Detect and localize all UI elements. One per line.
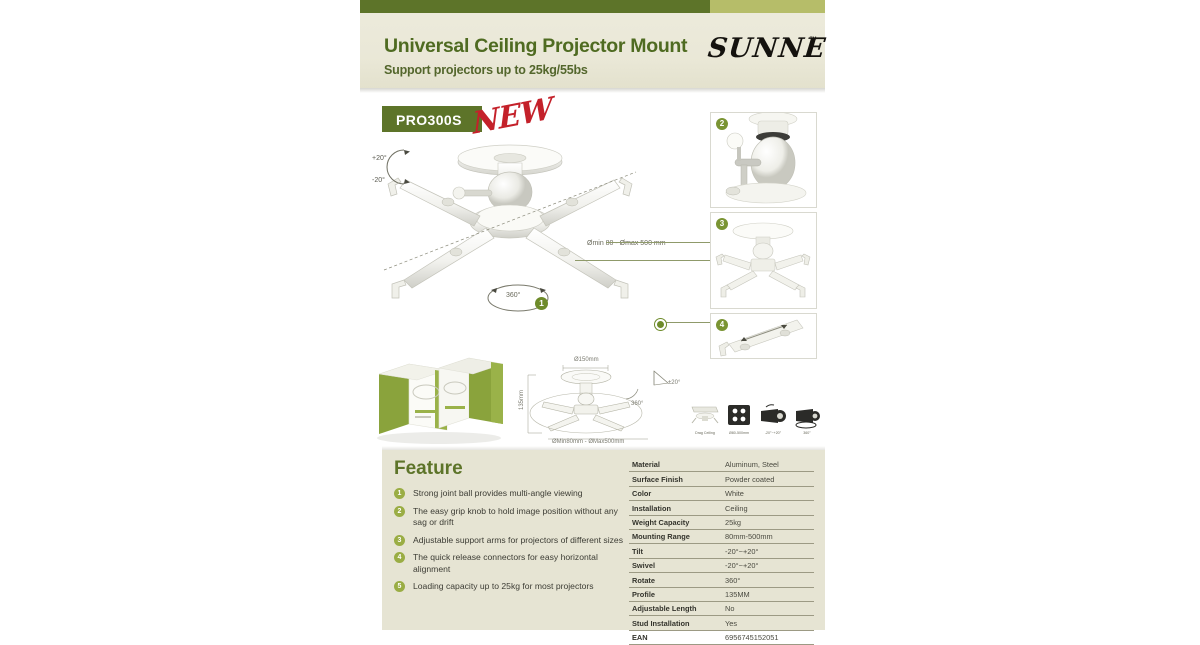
header-band: [360, 0, 825, 13]
dim-bottom-label: ØMin80mm - ØMax500mm: [552, 439, 624, 445]
spec-key: Mounting Range: [629, 529, 722, 543]
feature-text: Strong joint ball provides multi-angle v…: [413, 488, 583, 498]
hero-illustration: +20° -20° Ømin 80 - Ømax 500 mm 360° 1: [360, 130, 700, 350]
spec-key: Rotate: [629, 573, 722, 587]
tilt-swivel-icon: [758, 403, 788, 431]
dim-rotate-label: 360°: [631, 401, 643, 407]
trademark-symbol: ™: [809, 35, 817, 44]
table-row: Mounting Range 80mm-500mm: [629, 529, 814, 543]
panel-quick-release: 4: [710, 313, 817, 359]
page-subtitle: Support projectors up to 25kg/55bs: [384, 63, 588, 77]
spec-key: Profile: [629, 587, 722, 601]
spec-key: EAN: [629, 630, 722, 644]
callout-badge-1: 1: [535, 297, 548, 310]
leader-line-2: [606, 242, 710, 243]
header-band-accent: [710, 0, 825, 13]
table-row: Color White: [629, 486, 814, 500]
dim-top-label: Ø150mm: [574, 357, 599, 363]
spec-value: No: [722, 601, 814, 615]
feature-heading: Feature: [394, 458, 463, 480]
table-row: Surface Finish Powder coated: [629, 472, 814, 486]
page-title: Universal Ceiling Projector Mount: [384, 35, 687, 58]
page-canvas: Universal Ceiling Projector Mount Suppor…: [0, 0, 1200, 630]
table-row: Tilt -20°~+20°: [629, 544, 814, 558]
spec-key: Color: [629, 486, 722, 500]
drop-ceiling-icon: [690, 403, 720, 431]
table-row: EAN 6956745152051: [629, 630, 814, 644]
mounting-pattern-caption: Ø80-500mm: [722, 431, 756, 436]
model-badge: PRO300S: [382, 106, 482, 132]
feature-number: 4: [394, 552, 405, 563]
tilt-up-label: +20°: [372, 155, 387, 162]
spec-value: 80mm-500mm: [722, 529, 814, 543]
feature-text: The easy grip knob to hold image positio…: [413, 506, 618, 528]
leader-dot-4: [655, 319, 666, 330]
spec-key: Tilt: [629, 544, 722, 558]
spec-value: -20°~+20°: [722, 544, 814, 558]
feature-icon-row: Drag Ceiling Ø80-500mm -20°~+20°: [690, 403, 820, 445]
spec-key: Adjustable Length: [629, 601, 722, 615]
header-box: Universal Ceiling Projector Mount Suppor…: [360, 13, 825, 88]
feature-item: 4 The quick release connectors for easy …: [394, 552, 624, 575]
rotate-caption: 360°: [790, 431, 824, 436]
datasheet: Universal Ceiling Projector Mount Suppor…: [360, 0, 825, 630]
spec-value: 6956745152051: [722, 630, 814, 644]
spec-value: Yes: [722, 616, 814, 630]
spec-value: White: [722, 486, 814, 500]
table-row: Rotate 360°: [629, 573, 814, 587]
panel-grip-knob: 2: [710, 112, 817, 208]
feature-item: 1 Strong joint ball provides multi-angle…: [394, 488, 624, 500]
feature-item: 2 The easy grip knob to hold image posit…: [394, 506, 624, 529]
model-sku: PRO300S: [396, 112, 462, 128]
panel-number-4: 4: [716, 319, 728, 331]
feature-text: The quick release connectors for easy ho…: [413, 552, 598, 574]
leader-line-3: [575, 260, 710, 261]
tilt-down-label: -20°: [372, 177, 385, 184]
panel-number-2: 2: [716, 118, 728, 130]
feature-spec-panel: Feature 1 Strong joint ball provides mul…: [382, 450, 825, 630]
table-row: Profile 135MM: [629, 587, 814, 601]
feature-number: 1: [394, 488, 405, 499]
feature-number: 5: [394, 581, 405, 592]
brand-logo: SUNNE ™: [708, 33, 818, 67]
spec-key: Surface Finish: [629, 472, 722, 486]
spec-value: 360°: [722, 573, 814, 587]
dimension-drawing: Ø150mm 135mm ØMin80mm - ØMax500mm 360° ±…: [508, 355, 688, 447]
spec-value: 135MM: [722, 587, 814, 601]
spec-key: Installation: [629, 501, 722, 515]
table-row: Swivel -20°~+20°: [629, 558, 814, 572]
mounting-pattern-icon: [724, 403, 754, 431]
header-shadow: [360, 88, 825, 93]
spec-value: Powder coated: [722, 472, 814, 486]
dimension-diagram: [508, 355, 688, 447]
specification-table: Material Aluminum, Steel Surface Finish …: [629, 458, 814, 645]
tilt-swivel-caption: -20°~+20°: [756, 431, 790, 436]
panel-full-mount: 3: [710, 212, 817, 309]
feature-list: 1 Strong joint ball provides multi-angle…: [394, 488, 624, 599]
dim-height-label: 135mm: [519, 390, 525, 410]
table-row: Installation Ceiling: [629, 501, 814, 515]
panel-number-3: 3: [716, 218, 728, 230]
feature-text: Adjustable support arms for projectors o…: [413, 535, 623, 545]
spec-key: Swivel: [629, 558, 722, 572]
rotate-icon: [792, 403, 822, 431]
rotation-label: 360°: [506, 292, 520, 299]
spec-value: Ceiling: [722, 501, 814, 515]
spec-value: 25kg: [722, 515, 814, 529]
feature-number: 3: [394, 535, 405, 546]
dim-tilt-label: ±20°: [668, 380, 680, 386]
spec-key: Weight Capacity: [629, 515, 722, 529]
table-row: Adjustable Length No: [629, 601, 814, 615]
spec-value: -20°~+20°: [722, 558, 814, 572]
package-boxes-image: [365, 352, 510, 447]
spec-value: Aluminum, Steel: [722, 458, 814, 472]
spec-key: Material: [629, 458, 722, 472]
feature-text: Loading capacity up to 25kg for most pro…: [413, 581, 594, 591]
table-row: Weight Capacity 25kg: [629, 515, 814, 529]
table-row: Material Aluminum, Steel: [629, 458, 814, 472]
drop-ceiling-caption: Drag Ceiling: [688, 431, 722, 436]
retail-packaging: [365, 352, 510, 447]
feature-item: 5 Loading capacity up to 25kg for most p…: [394, 581, 624, 593]
spec-key: Stud Installation: [629, 616, 722, 630]
feature-number: 2: [394, 506, 405, 517]
feature-item: 3 Adjustable support arms for projectors…: [394, 535, 624, 547]
table-row: Stud Installation Yes: [629, 616, 814, 630]
